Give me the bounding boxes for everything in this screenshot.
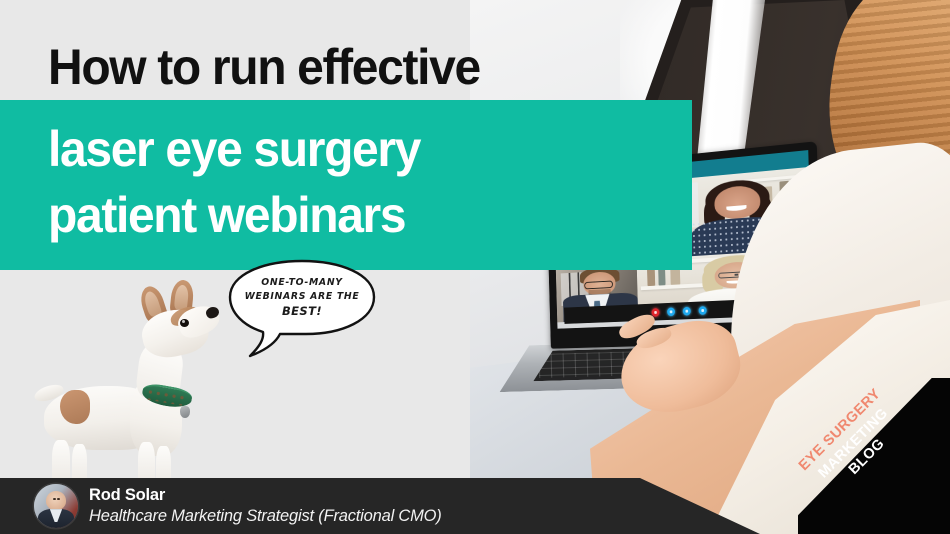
speech-bubble-text: ONE-TO-MANY WEBINARS ARE THE BEST! [238,276,366,318]
speech-bubble-line-3: BEST! [238,304,366,318]
share-screen-button[interactable] [698,306,706,315]
avatar-eye [53,498,56,500]
author-role: Healthcare Marketing Strategist (Fractio… [89,505,442,527]
headline-line-2: laser eye surgery [48,120,420,178]
speech-bubble: ONE-TO-MANY WEBINARS ARE THE BEST! [222,258,382,362]
speech-bubble-line-2: WEBINARS ARE THE [238,290,366,304]
headline-line-3: patient webinars [48,186,405,244]
byline-text-group: Rod Solar Healthcare Marketing Strategis… [89,486,442,527]
camera-toggle-button[interactable] [667,307,675,316]
speech-bubble-line-1: ONE-TO-MANY [238,276,366,290]
hero-thumbnail-canvas: How to run effective laser eye surgery p… [0,0,950,534]
avatar-eye [57,498,60,500]
dog-icon [38,290,238,490]
byline-content: Rod Solar Healthcare Marketing Strategis… [0,478,442,534]
dog-fur-patch [60,390,90,424]
author-name: Rod Solar [89,486,442,505]
dog-eye [180,319,189,327]
status-badge: EYE SURGERY MARKETING BLOG [798,378,950,534]
microphone-toggle-button[interactable] [682,306,690,315]
avatar [34,484,78,528]
avatar-face [46,491,66,510]
headline-line-1: How to run effective [48,38,480,96]
dog-collar-tag [180,406,190,418]
byline-bar: Rod Solar Healthcare Marketing Strategis… [0,478,760,534]
